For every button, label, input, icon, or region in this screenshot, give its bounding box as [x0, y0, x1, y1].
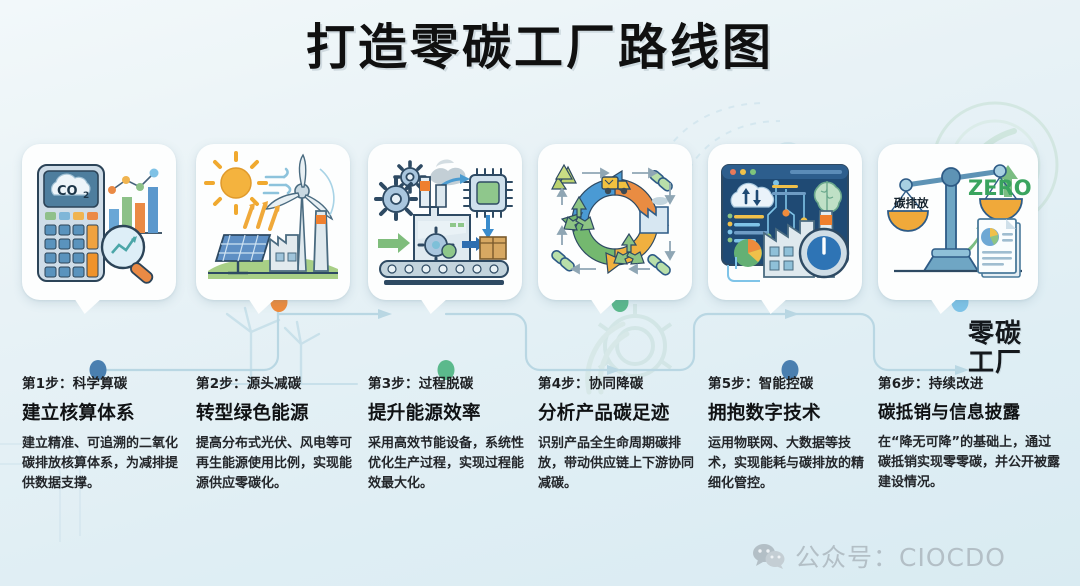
step-1-illustration: CO 2: [28, 149, 170, 295]
step-1-description: 建立精准、可追溯的二氧化碳排放核算体系，为减排提供数据支撑。: [22, 434, 190, 493]
co2-subscript: 2: [83, 191, 89, 201]
step-3-headline: 提升能源效率: [368, 399, 544, 425]
step-5-description: 运用物联网、大数据等技术，实现能耗与碳排放的精细化管控。: [708, 434, 876, 493]
card-tail: [590, 298, 618, 314]
step-1-headline: 建立核算体系: [22, 399, 198, 425]
step-3-label: 第3步：过程脱碳: [368, 372, 544, 392]
step-6-headline: 碳抵销与信息披露: [878, 399, 1074, 424]
step-1-icon-card: CO 2: [22, 144, 176, 300]
step-4-text: 第4步：协同降碳 分析产品碳足迹 识别产品全生命周期碳排放，带动供应链上下游协同…: [538, 372, 714, 493]
sun-icon: [206, 153, 266, 213]
card-tail: [930, 298, 958, 314]
step-6-icon-card: 碳排放 ZERO: [878, 144, 1038, 300]
step-4-headline: 分析产品碳足迹: [538, 399, 714, 425]
raw-material-icon: [552, 165, 576, 189]
outcome-label-line-1: 零碳: [968, 320, 1068, 349]
step-3-description: 采用高效节能设备，系统性优化生产过程，实现过程能效最大化。: [368, 434, 536, 493]
step-2-text: 第2步：源头减碳 转型绿色能源 提高分布式光伏、风电等可再生能源使用比例，实现能…: [196, 372, 372, 493]
step-2-label: 第2步：源头减碳: [196, 372, 372, 392]
factory-icon: [270, 235, 298, 271]
step-4-description: 识别产品全生命周期碳排放，带动供应链上下游协同减碳。: [538, 434, 706, 493]
step-1-text: 第1步：科学算碳 建立核算体系 建立精准、可追溯的二氧化碳排放核算体系，为减排提…: [22, 372, 198, 493]
wind-lines-icon: [264, 169, 290, 193]
pie-chart-icon: [734, 239, 762, 267]
outcome-label-line-2: 工厂: [968, 349, 1068, 378]
step-2-description: 提高分布式光伏、风电等可再生能源使用比例，实现能源供应零碳化。: [196, 434, 364, 493]
scale-right-label: ZERO: [968, 176, 1032, 200]
pie-chart-icon: [981, 228, 999, 246]
step-5-headline: 拥抱数字技术: [708, 399, 884, 425]
co2-label: CO: [57, 184, 78, 199]
watermark: 公众号：CIOCDO: [752, 538, 1006, 574]
roadmap-step-4[interactable]: 第4步：协同降碳 分析产品碳足迹 识别产品全生命周期碳排放，带动供应链上下游协同…: [538, 144, 708, 300]
step-5-label: 第5步：智能控碳: [708, 372, 884, 392]
step-1-label: 第1步：科学算碳: [22, 372, 198, 392]
watermark-text: 公众号：CIOCDO: [795, 538, 1006, 574]
outcome-label: 零碳 工厂: [968, 320, 1068, 378]
card-tail: [420, 298, 448, 314]
step-4-icon-card: [538, 144, 692, 300]
chimney-icon: [314, 211, 328, 271]
report-document-icon: [978, 219, 1020, 277]
step-6-text: 第6步：持续改进 碳抵销与信息披露 在“降无可降”的基础上，通过碳抵销实现零零碳…: [878, 372, 1074, 492]
gear-icon: [376, 162, 425, 219]
step-2-illustration: [202, 149, 344, 295]
roadmap-step-6[interactable]: 碳排放 ZERO: [878, 144, 1074, 300]
step-6-illustration: 碳排放 ZERO: [884, 149, 1032, 295]
wechat-icon: [752, 543, 786, 569]
step-5-illustration: [714, 149, 856, 295]
card-tail: [760, 298, 788, 314]
gauge-dial-icon: [800, 229, 848, 277]
roadmap-step-3[interactable]: 第3步：过程脱碳 提升能源效率 采用高效节能设备，系统性优化生产过程，实现过程能…: [368, 144, 538, 300]
step-3-icon-card: [368, 144, 522, 300]
step-6-description: 在“降无可降”的基础上，通过碳抵销实现零零碳，并公开被露建设情况。: [878, 433, 1064, 492]
step-3-illustration: [374, 149, 516, 295]
step-4-illustration: [544, 149, 686, 295]
conveyor-belt-icon: [380, 261, 508, 285]
step-5-icon-card: [708, 144, 862, 300]
factory-icon: [414, 177, 470, 262]
roadmap-step-5[interactable]: 第5步：智能控碳 拥抱数字技术 运用物联网、大数据等技术，实现能耗与碳排放的精细…: [708, 144, 878, 300]
step-2-icon-card: [196, 144, 350, 300]
step-5-text: 第5步：智能控碳 拥抱数字技术 运用物联网、大数据等技术，实现能耗与碳排放的精细…: [708, 372, 884, 493]
step-3-text: 第3步：过程脱碳 提升能源效率 采用高效节能设备，系统性优化生产过程，实现过程能…: [368, 372, 544, 493]
microchip-icon: [464, 169, 512, 217]
roadmap-step-2[interactable]: 第2步：源头减碳 转型绿色能源 提高分布式光伏、风电等可再生能源使用比例，实现能…: [196, 144, 366, 300]
scale-left-label: 碳排放: [894, 196, 929, 210]
roadmap-step-1[interactable]: CO 2: [22, 144, 192, 300]
card-tail: [74, 298, 102, 314]
package-box-icon: [480, 237, 506, 259]
roadmap-steps-row: CO 2: [0, 144, 1080, 574]
green-arrow-icon: [378, 233, 410, 253]
card-tail: [248, 298, 276, 314]
step-4-label: 第4步：协同降碳: [538, 372, 714, 392]
step-2-headline: 转型绿色能源: [196, 399, 372, 425]
